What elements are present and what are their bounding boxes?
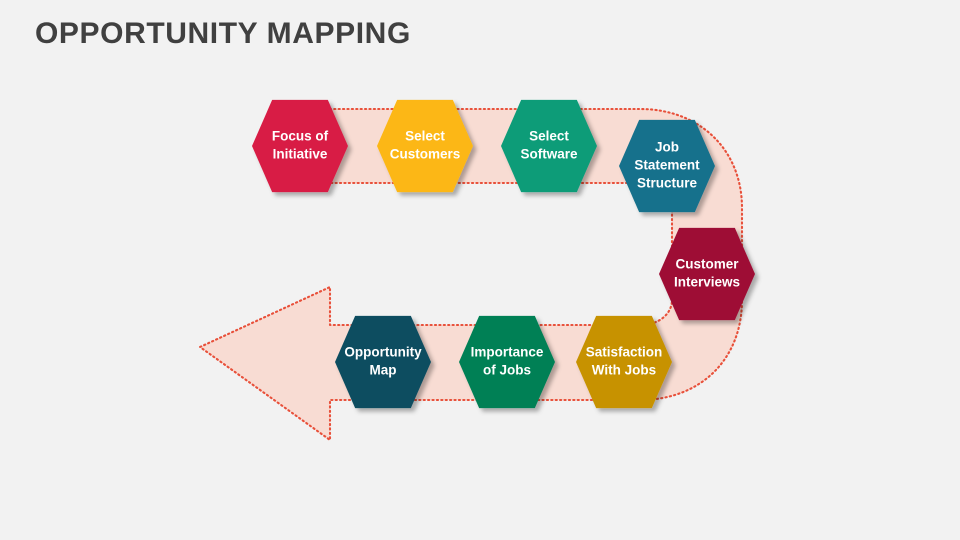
hexagon-label-line: Focus of [272,129,329,144]
hexagon-label-line: Satisfaction [586,345,663,360]
hexagon-label-line: of Jobs [483,363,531,378]
hexagon-label-line: Structure [637,176,698,191]
hexagon-step-select-software[interactable]: SelectSoftware [501,100,597,192]
hexagon-label-line: Importance [471,345,544,360]
hexagon-step-opportunity-map[interactable]: OpportunityMap [335,316,431,408]
hexagon-step-select-customers[interactable]: SelectCustomers [377,100,473,192]
hexagon-step-job-statement-structure[interactable]: JobStatementStructure [619,120,715,212]
hexagon-step-satisfaction-with-jobs[interactable]: SatisfactionWith Jobs [576,316,672,408]
hexagon-step-importance-of-jobs[interactable]: Importanceof Jobs [459,316,555,408]
hexagon-step-focus-of-initiative[interactable]: Focus ofInitiative [252,100,348,192]
hexagon-label-line: Interviews [674,275,740,290]
hexagon-label-line: Statement [634,158,700,173]
hexagon-label-line: Select [405,129,445,144]
hexagon-label-line: Map [370,363,397,378]
hexagon-label-line: Opportunity [344,345,422,360]
slide-canvas: OPPORTUNITY MAPPING Focus ofInitiativeSe… [0,0,960,540]
hexagon-label-line: Customers [390,147,461,162]
hexagon-label-line: Job [655,140,679,155]
hexagon-step-customer-interviews[interactable]: CustomerInterviews [659,228,755,320]
opportunity-mapping-diagram: Focus ofInitiativeSelectCustomersSelectS… [0,0,960,540]
hexagon-label-line: Select [529,129,569,144]
hexagon-label-line: Initiative [273,147,328,162]
hexagon-label-line: Customer [675,257,739,272]
hexagon-label-line: Software [520,147,578,162]
hexagon-label-line: With Jobs [592,363,656,378]
